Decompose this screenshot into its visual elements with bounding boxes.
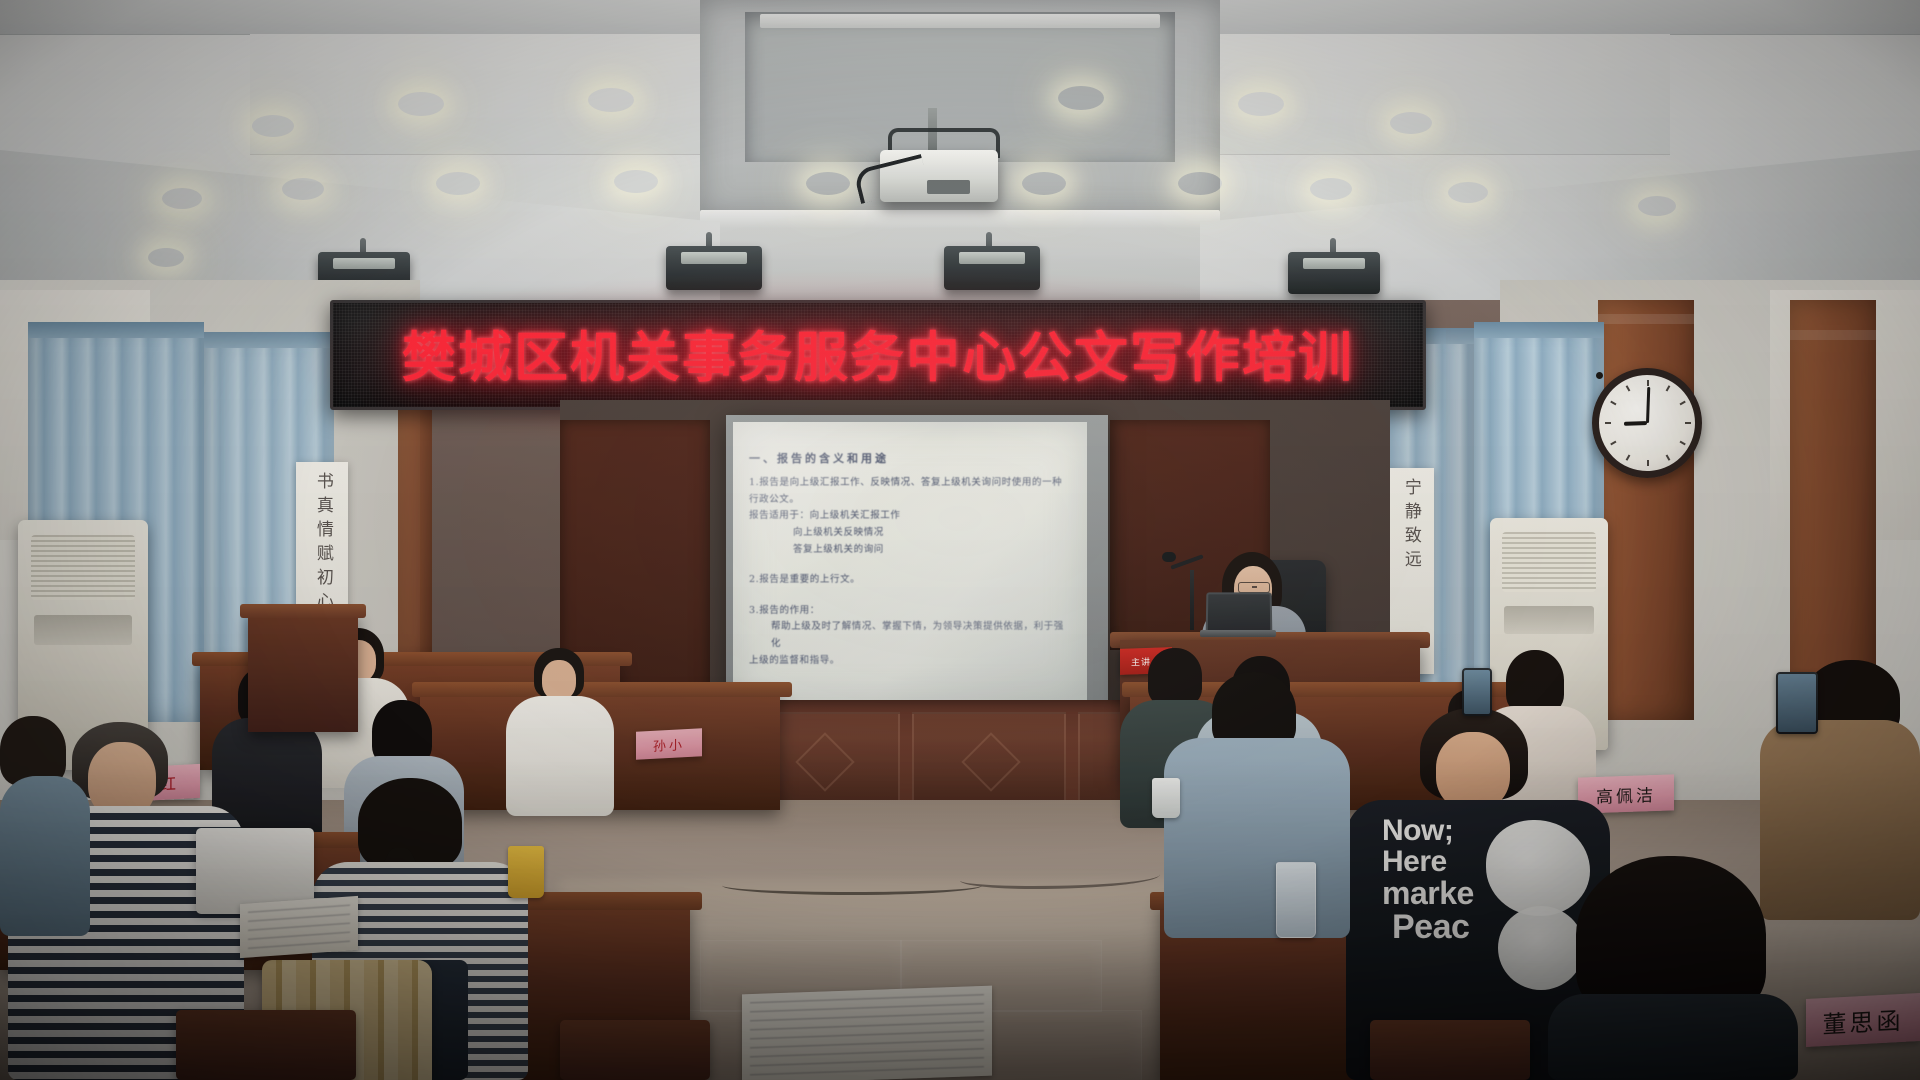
phone-screen — [1464, 670, 1490, 714]
desk-surface — [412, 682, 792, 697]
slide-line: 3.报告的作用： — [749, 603, 1073, 620]
paper-text-lines — [750, 994, 984, 1076]
clock-tick — [1680, 401, 1686, 406]
handout-paper — [742, 986, 992, 1080]
ac-panel — [34, 615, 133, 645]
slide-spacer — [749, 558, 1073, 572]
microphone-head — [1162, 552, 1176, 562]
name-placard: 孙小 — [636, 728, 702, 759]
ac-panel — [1504, 606, 1594, 634]
downlight — [148, 248, 184, 267]
projection-screen: 一、报告的含义和用途 1.报告是向上级汇报工作、反映情况、答复上级机关询问时使用… — [733, 422, 1087, 708]
training-room-photo: 书真情赋初心成 宁静致远 樊城区机关事务服务中心公文写作培训 — [0, 0, 1920, 1080]
slide-heading: 一、报告的含义和用途 — [749, 450, 1073, 466]
pillar-band — [1790, 330, 1876, 340]
clock-center-pin — [1596, 372, 1603, 379]
downlight — [1390, 112, 1432, 134]
podium-top — [240, 604, 366, 618]
attendee-head — [542, 660, 576, 700]
tshirt-line: Peac — [1382, 910, 1474, 945]
clock-tick — [1647, 380, 1649, 386]
clock-tick — [1626, 455, 1631, 461]
microphone-stand — [1190, 570, 1194, 630]
clock-tick — [1680, 441, 1686, 446]
slide-line-indented: 答复上级机关的询问 — [749, 542, 1073, 559]
clock-tick — [1685, 422, 1691, 424]
downlight — [252, 115, 294, 137]
clock-tick — [1666, 385, 1671, 391]
stage-spotlight — [944, 246, 1040, 290]
curtain-rail — [28, 322, 204, 338]
clock-hour-hand — [1624, 421, 1647, 426]
stage-spotlight — [666, 246, 762, 290]
drink-cup — [508, 846, 544, 898]
phone-screen — [1778, 674, 1816, 732]
slide-line: 上级的监督和指导。 — [749, 653, 1073, 670]
smartphone — [1776, 672, 1818, 734]
clock-tick — [1610, 441, 1616, 446]
pillar-band — [1598, 314, 1694, 324]
downlight — [436, 172, 480, 195]
tshirt-line: Now; — [1382, 816, 1474, 847]
attendee-torso — [1548, 994, 1798, 1080]
clock-tick — [1647, 460, 1649, 466]
attendee-torso — [1164, 738, 1350, 938]
attendee-hair — [1148, 648, 1202, 706]
downlight — [1058, 86, 1104, 110]
laptop-base — [1200, 630, 1276, 637]
clock-tick — [1605, 422, 1611, 424]
downlight — [1310, 178, 1352, 200]
tshirt-graphic-text: Now; Here marke Peac — [1382, 816, 1474, 944]
attendee-head — [1436, 732, 1510, 810]
slide-line: 2.报告是重要的上行文。 — [749, 572, 1073, 589]
water-glass — [1276, 862, 1316, 938]
slide-line: 报告适用于：向上级机关汇报工作 — [749, 508, 1073, 525]
downlight — [806, 172, 850, 195]
slide-spacer — [749, 589, 1073, 603]
ceiling-beam-1 — [760, 14, 1160, 28]
downlight — [1448, 182, 1488, 203]
tshirt-patch — [1486, 820, 1590, 916]
downlight — [1238, 92, 1284, 116]
water-cup — [1152, 778, 1180, 818]
smartphone — [1462, 668, 1492, 716]
attendee-torso — [506, 696, 614, 816]
presenter-glasses — [1238, 582, 1270, 593]
slide-line: 1.报告是向上级汇报工作、反映情况、答复上级机关询问时使用的一种 — [749, 475, 1073, 492]
handout-paper — [240, 896, 358, 958]
chair — [560, 1020, 710, 1080]
attendee-torso — [1760, 720, 1920, 920]
wainscot-diamond — [961, 732, 1020, 791]
downlight — [614, 170, 658, 193]
slide-line: 行政公文。 — [749, 492, 1073, 509]
clock-minute-hand — [1646, 386, 1650, 423]
downlight — [1178, 172, 1222, 195]
downlight — [588, 88, 634, 112]
slide-line-indented: 向上级机关反映情况 — [749, 525, 1073, 542]
downlight — [162, 188, 202, 209]
wainscot-diamond — [795, 732, 854, 791]
chair — [176, 1010, 356, 1080]
attendee-hair — [1506, 650, 1564, 714]
slide-content: 一、报告的含义和用途 1.报告是向上级汇报工作、反映情况、答复上级机关询问时使用… — [749, 450, 1073, 669]
stage-spotlight — [1288, 252, 1380, 294]
tshirt-patch — [1498, 906, 1584, 990]
clock-tick — [1666, 455, 1671, 461]
tshirt-line: Here — [1382, 847, 1474, 878]
ceiling-beam-2 — [700, 210, 1220, 228]
podium — [248, 612, 358, 732]
floor-cable — [722, 876, 982, 895]
downlight — [282, 178, 324, 200]
led-banner-text: 樊城区机关事务服务中心公文写作培训 — [333, 303, 1423, 407]
led-banner: 樊城区机关事务服务中心公文写作培训 — [330, 300, 1426, 410]
wainscot-panel — [912, 712, 1066, 808]
ac-grill — [1502, 532, 1596, 592]
chair — [1370, 1020, 1530, 1080]
attendee-torso — [0, 776, 90, 936]
paper-text-lines — [248, 904, 350, 949]
name-placard: 董思函 — [1806, 993, 1920, 1047]
wall-clock — [1592, 368, 1702, 478]
curtain-rail — [204, 332, 334, 348]
curtain-rail — [1474, 322, 1604, 338]
downlight — [398, 92, 444, 116]
slide-line: 帮助上级及时了解情况、掌握下情，为领导决策提供依据，利于强化 — [749, 619, 1073, 652]
pillar-right-inner — [1598, 300, 1694, 720]
tshirt-line: marke — [1382, 877, 1474, 910]
clock-tick — [1626, 385, 1631, 391]
clock-tick — [1610, 401, 1616, 406]
downlight — [1638, 196, 1676, 216]
ac-grill — [31, 535, 135, 600]
calligraphy-scroll-right-text: 宁静致远 — [1401, 478, 1419, 574]
downlight — [1022, 172, 1066, 195]
